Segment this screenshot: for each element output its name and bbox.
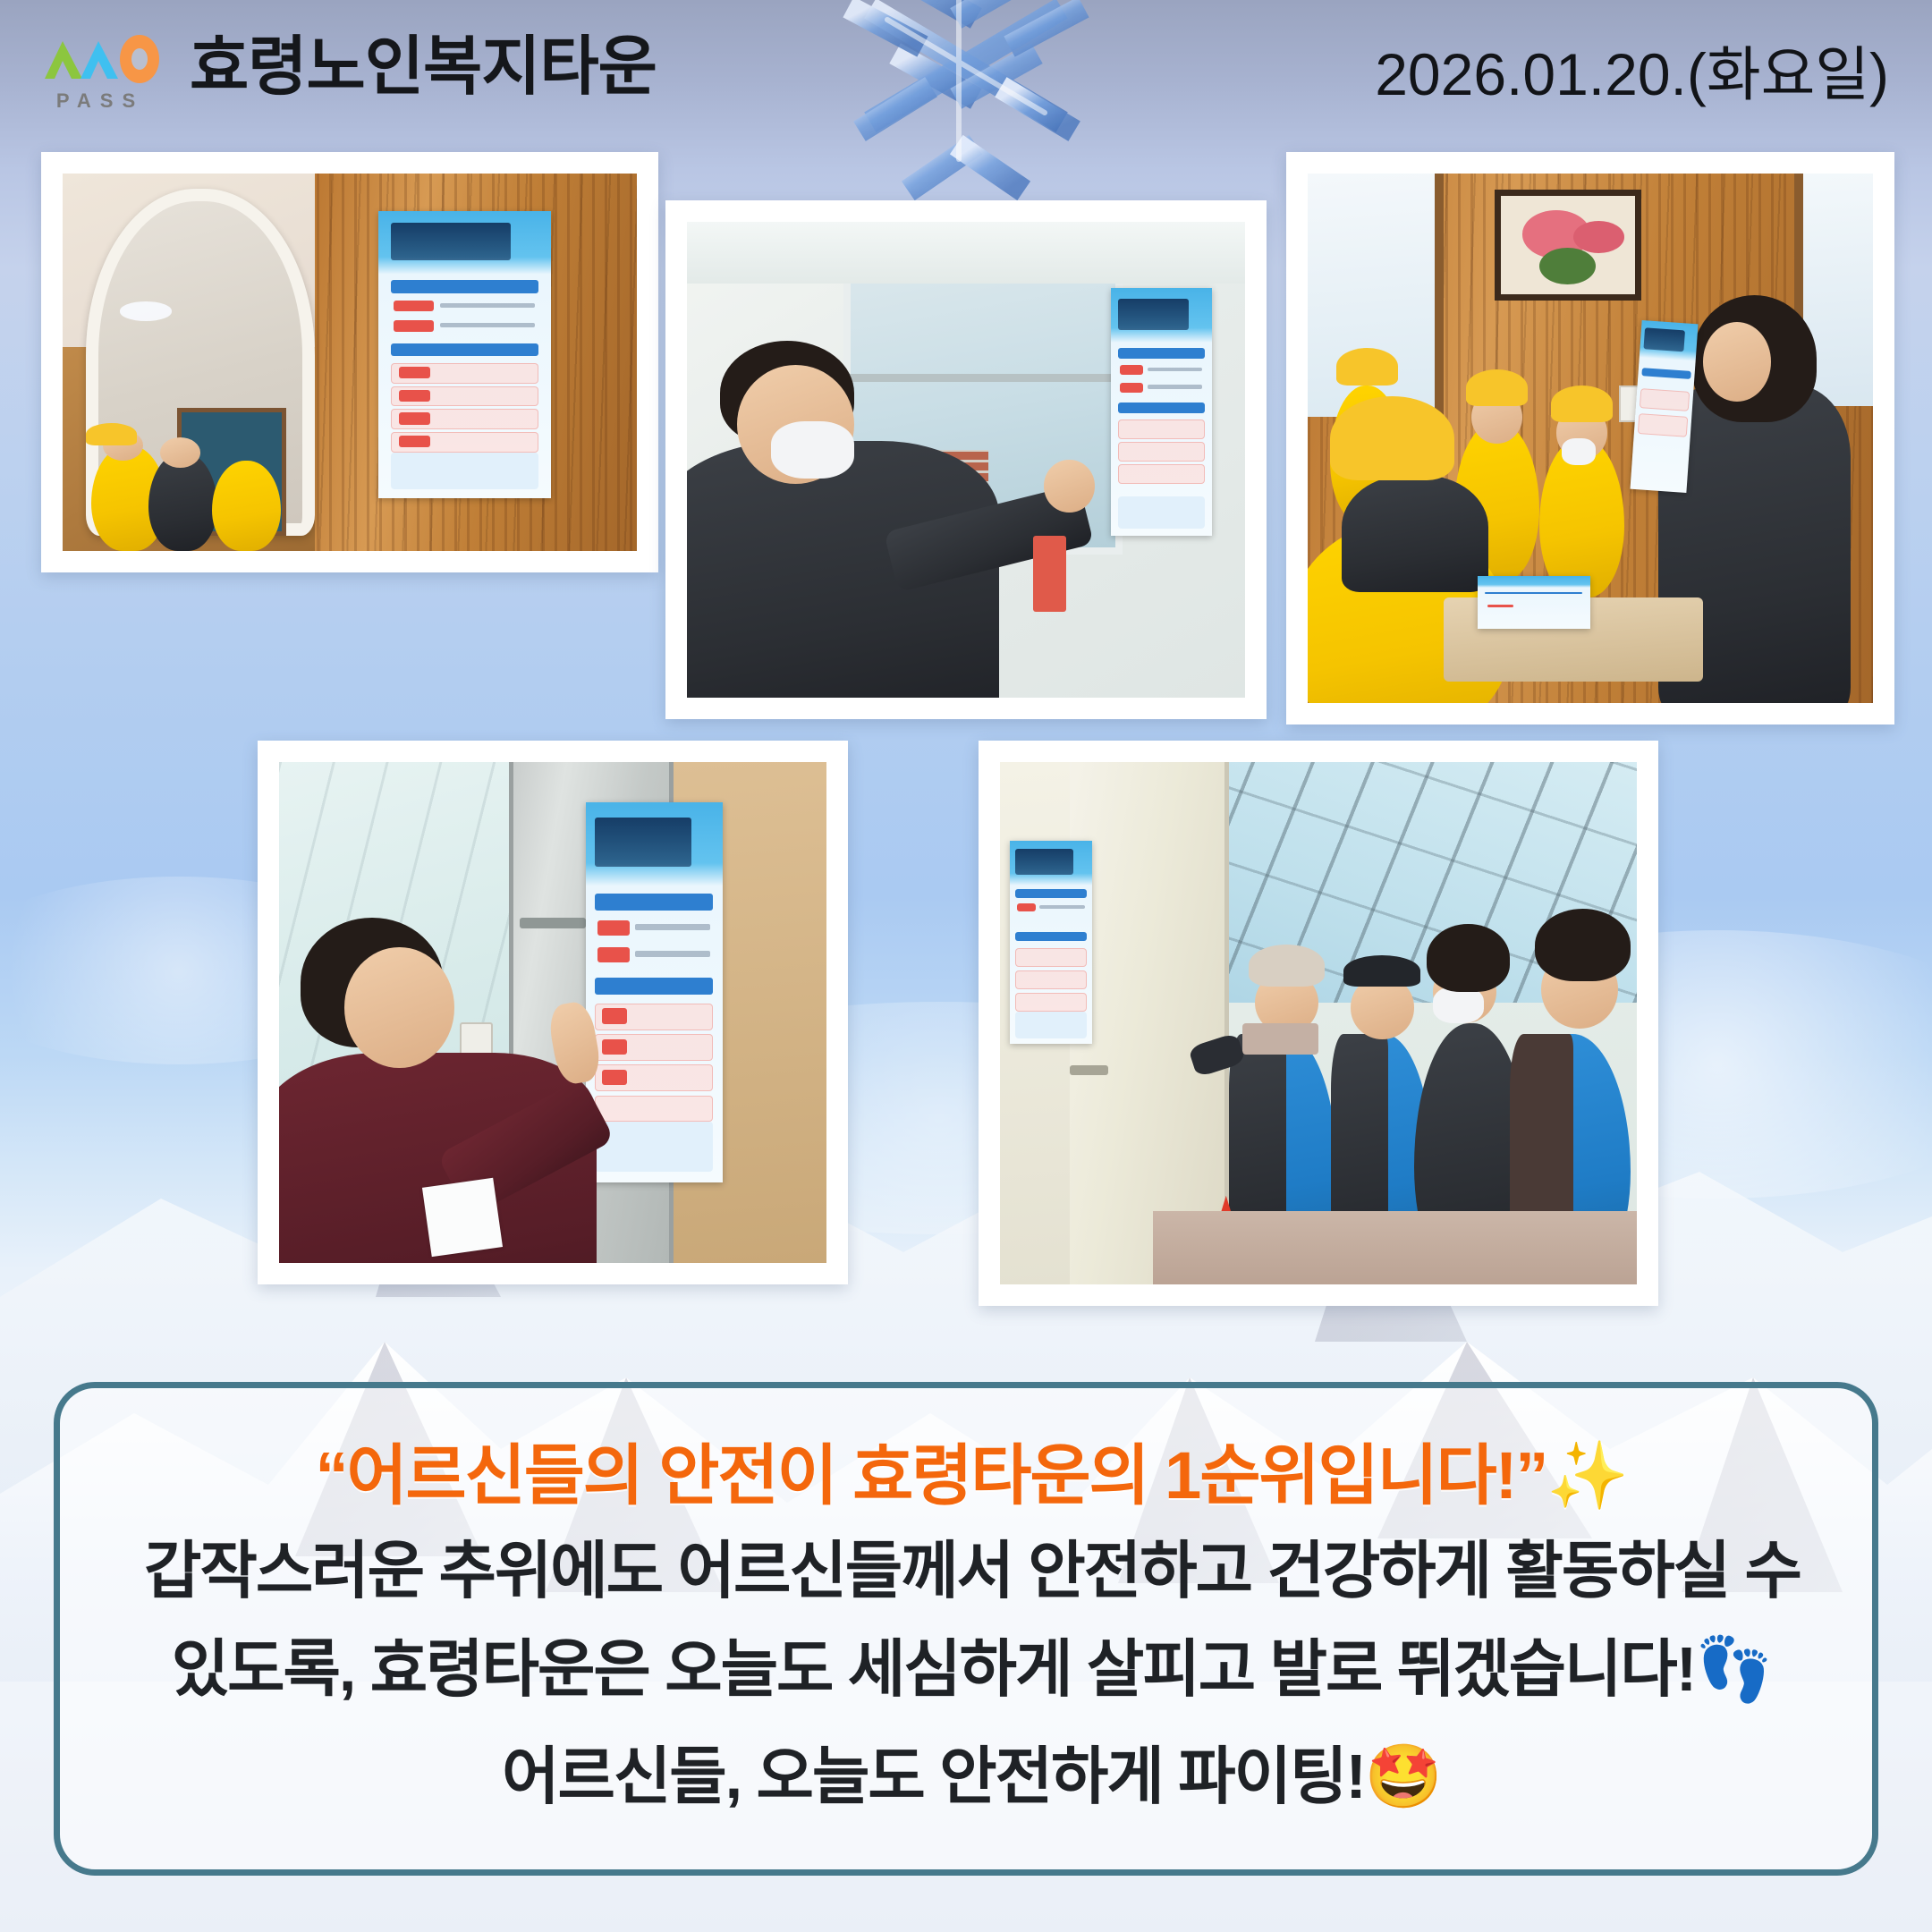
photo-5: [1000, 762, 1637, 1284]
photo-frame-3[interactable]: [1286, 152, 1894, 724]
photo-1: [63, 174, 637, 551]
photo-frame-4[interactable]: [258, 741, 848, 1284]
photo-4-scene: [279, 762, 826, 1263]
info-card: PASS 효령노인복지타운 2026.01.20.(화요일): [0, 0, 1932, 1932]
header: PASS 효령노인복지타운 2026.01.20.(화요일): [0, 0, 1932, 143]
message-box: “어르신들의 안전이 효령타운의 1순위입니다!”✨ 갑작스러운 추위에도 어르…: [54, 1382, 1878, 1876]
photo-frame-2[interactable]: [665, 200, 1267, 719]
logo-wordmark: PASS: [50, 89, 150, 113]
message-line-2: 갑작스러운 추위에도 어르신들께서 안전하고 건강하게 활동하실 수: [60, 1521, 1885, 1611]
photo-1-scene: [63, 174, 637, 551]
photo-frame-5[interactable]: [979, 741, 1658, 1306]
photo-3: [1308, 174, 1873, 703]
cold-wave-poster: [1111, 288, 1211, 536]
sparkles-emoji: ✨: [1546, 1438, 1629, 1513]
cold-wave-poster: [378, 211, 551, 498]
page-title: 효령노인복지타운: [190, 27, 657, 107]
message-line-3: 있도록, 효령타운은 오늘도 세심하게 살피고 발로 뛰겠습니다!👣: [60, 1619, 1885, 1709]
message-line-3-text: 있도록, 효령타운은 오늘도 세심하게 살피고 발로 뛰겠습니다!: [172, 1634, 1695, 1704]
photo-3-scene: [1308, 174, 1873, 703]
photo-4: [279, 762, 826, 1263]
date-label: 2026.01.20.(화요일): [1375, 27, 1889, 113]
message-headline: “어르신들의 안전이 효령타운의 1순위입니다!”✨: [60, 1422, 1885, 1518]
snowflake-icon: [769, 0, 1163, 227]
photo-2-scene: [687, 222, 1245, 698]
cold-wave-leaflet: [1630, 320, 1698, 493]
logo[interactable]: PASS: [38, 25, 163, 122]
cold-wave-poster: [1010, 841, 1093, 1045]
footprints-emoji: 👣: [1695, 1634, 1773, 1704]
photo-5-scene: [1000, 762, 1637, 1284]
pass-logo-icon: [38, 25, 163, 84]
star-struck-emoji: 🤩: [1365, 1741, 1443, 1811]
photo-frame-1[interactable]: [41, 152, 658, 572]
message-line-4-text: 어르신들, 오늘도 안전하게 파이팅!: [502, 1741, 1365, 1811]
message-headline-text: “어르신들의 안전이 효령타운의 1순위입니다!”: [315, 1438, 1546, 1513]
photo-2: [687, 222, 1245, 698]
message-line-4: 어르신들, 오늘도 안전하게 파이팅!🤩: [60, 1726, 1885, 1817]
